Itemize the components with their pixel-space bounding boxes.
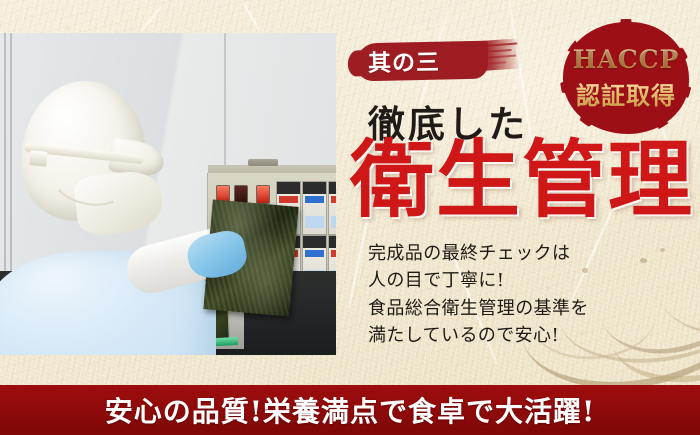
description-line: 満たしているので安心! xyxy=(368,322,668,349)
description-line: 食品総合衛生管理の基準を xyxy=(368,295,668,322)
main-title-text: 衛生管理 xyxy=(350,140,694,221)
control-panel-handle xyxy=(248,159,278,166)
bottom-banner: 安心の品質!栄養満点で食卓で大活躍! xyxy=(0,385,700,435)
haccp-certification-seal: HACCP 認証取得 xyxy=(563,22,689,134)
seal-label-en: HACCP xyxy=(573,45,680,74)
promo-banner-card: 其の三 徹底した 衛生管理 HACCP 認証取得 完成品の最終チェックは 人の目… xyxy=(0,0,700,435)
panel-meter xyxy=(302,181,327,235)
section-number-label: 其の三 xyxy=(368,42,489,78)
seal-label-jp: 認証取得 xyxy=(576,76,676,111)
description-text: 完成品の最終チェックは 人の目で丁寧に! 食品総合衛生管理の基準を 満たしている… xyxy=(368,240,668,349)
hood-buckle xyxy=(29,150,47,167)
panel-meter xyxy=(328,181,336,235)
factory-inspection-photo xyxy=(0,33,336,355)
section-number-brush-tag: 其の三 xyxy=(352,36,516,86)
bottom-banner-text: 安心の品質!栄養満点で食卓で大活躍! xyxy=(105,390,596,430)
description-line: 完成品の最終チェックは xyxy=(368,240,668,267)
indicator-led-red xyxy=(256,185,270,204)
description-line: 人の目で丁寧に! xyxy=(368,267,668,294)
